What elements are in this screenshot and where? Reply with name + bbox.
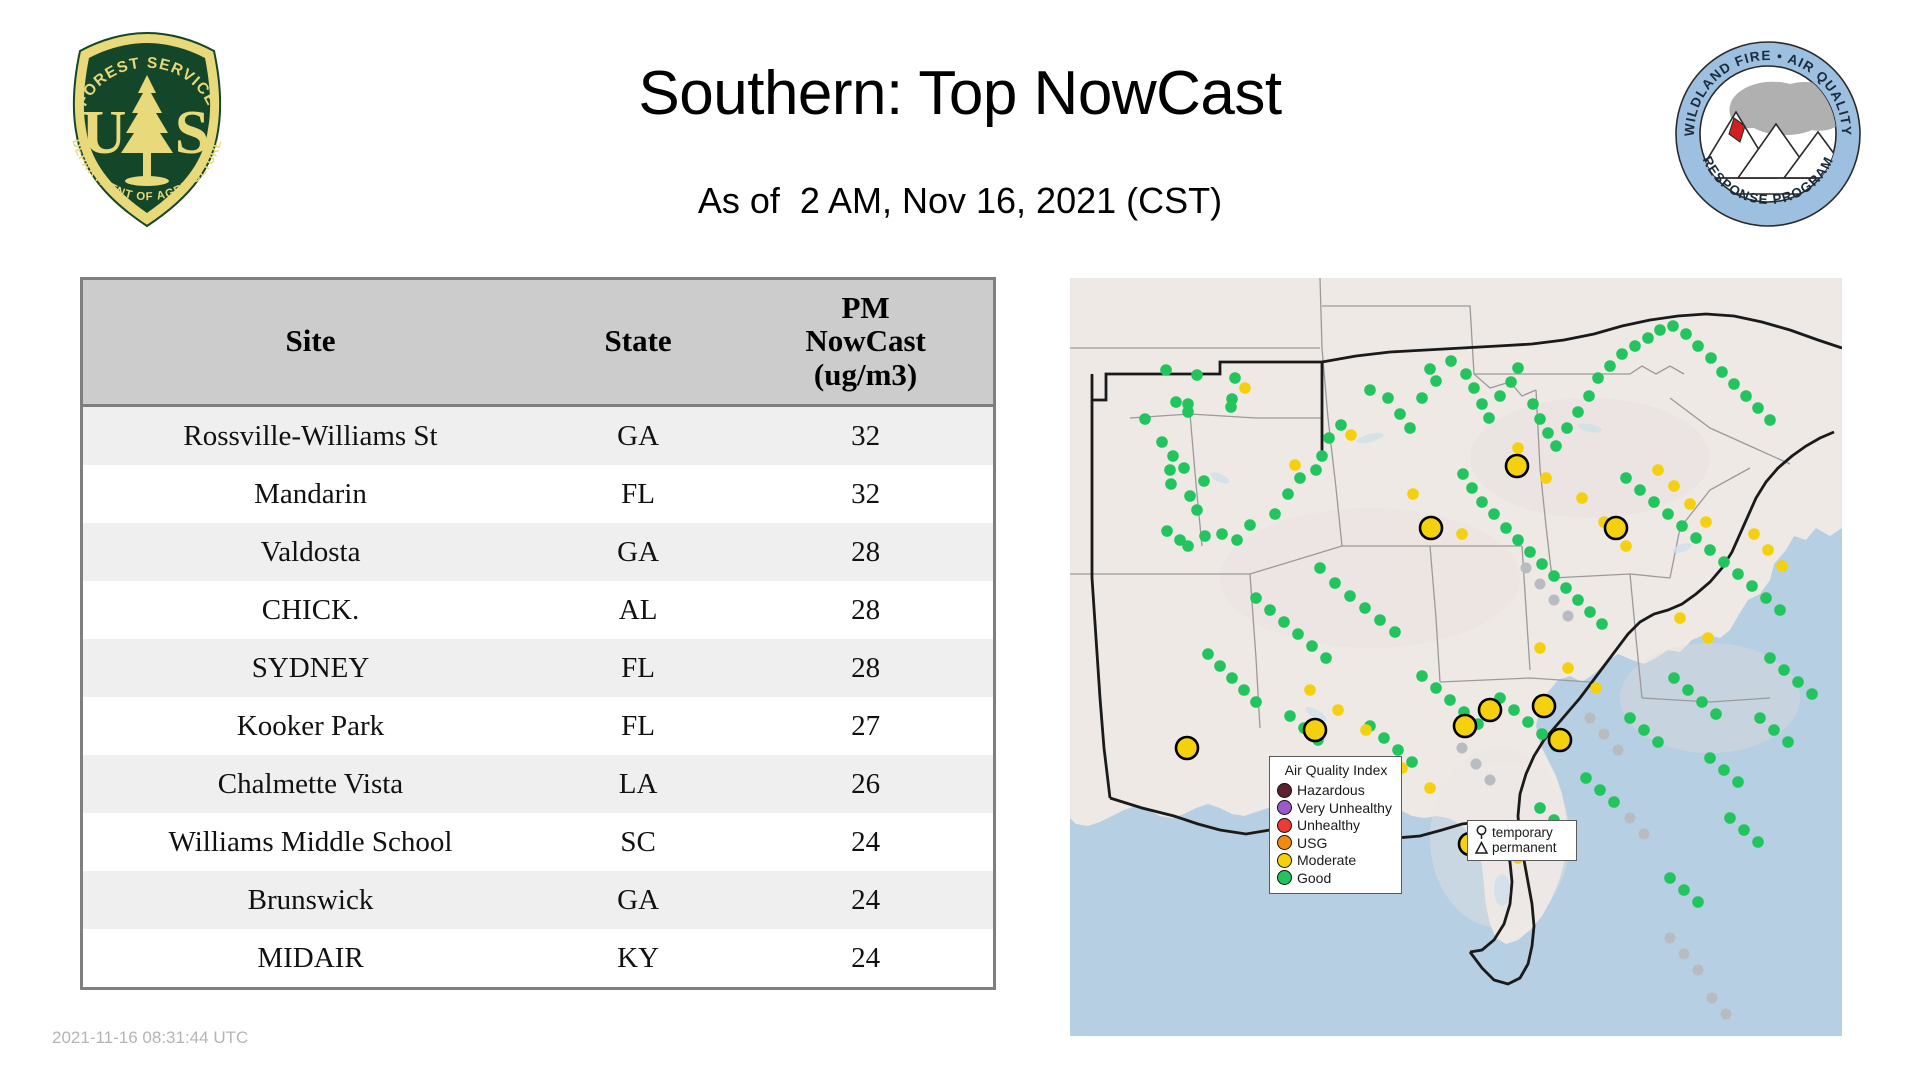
monitor-dot-good[interactable]	[1696, 696, 1708, 708]
column-header-pm-line2: NowCast	[742, 324, 989, 357]
cell-site: CHICK.	[83, 581, 538, 639]
monitor-dot-good[interactable]	[1740, 390, 1752, 402]
cell-state: FL	[538, 639, 738, 697]
table-row: Kooker ParkFL27	[83, 697, 993, 755]
monitor-dot-good[interactable]	[1704, 544, 1716, 556]
cell-state: GA	[538, 871, 738, 929]
monitor-dot-good[interactable]	[1782, 736, 1794, 748]
aqi-legend-label: Unhealthy	[1297, 818, 1360, 832]
monitor-dot-good[interactable]	[1264, 604, 1276, 616]
monitor-dot-top-site[interactable]	[1420, 517, 1442, 539]
monitor-dot-moderate[interactable]	[1590, 682, 1602, 694]
monitor-dot-moderate[interactable]	[1652, 464, 1664, 476]
monitor-dot-top-site[interactable]	[1176, 737, 1198, 759]
monitor-dot-good[interactable]	[1624, 712, 1636, 724]
monitor-dot-good[interactable]	[1394, 408, 1406, 420]
monitor-dot-moderate[interactable]	[1748, 528, 1760, 540]
monitor-dot-good[interactable]	[1652, 736, 1664, 748]
aqi-swatch-icon	[1277, 853, 1292, 868]
monitor-dot-good[interactable]	[1250, 592, 1262, 604]
monitor-dot-good[interactable]	[1522, 716, 1534, 728]
page-subtitle: As of 2 AM, Nov 16, 2021 (CST)	[0, 180, 1920, 222]
monitor-dot-good[interactable]	[1238, 684, 1250, 696]
map-canvas	[1070, 278, 1842, 1036]
monitor-dot-good[interactable]	[1282, 488, 1294, 500]
monitor-dot-offline[interactable]	[1665, 933, 1676, 944]
column-header-pm-nowcast: PM NowCast (ug/m3)	[738, 280, 993, 406]
monitor-dot-offline[interactable]	[1563, 611, 1574, 622]
table-row: MandarinFL32	[83, 465, 993, 523]
monitor-dot-good[interactable]	[1716, 366, 1728, 378]
aqi-legend: Air Quality Index HazardousVery Unhealth…	[1269, 756, 1402, 894]
monitor-dot-good[interactable]	[1310, 464, 1322, 476]
monitor-dot-good[interactable]	[1344, 590, 1356, 602]
table-header: Site State PM NowCast (ug/m3)	[83, 280, 993, 406]
monitor-dot-good[interactable]	[1550, 440, 1562, 452]
monitor-dot-good[interactable]	[1320, 652, 1332, 664]
footer-timestamp: 2021-11-16 08:31:44 UTC	[52, 1028, 248, 1048]
monitor-dot-top-site[interactable]	[1304, 719, 1326, 741]
table-body: Rossville-Williams StGA32MandarinFL32Val…	[83, 406, 993, 988]
cell-pm-nowcast: 24	[738, 871, 993, 929]
monitor-dot-top-site[interactable]	[1549, 729, 1571, 751]
monitor-dot-good[interactable]	[1182, 540, 1194, 552]
cell-state: FL	[538, 465, 738, 523]
monitor-dot-good[interactable]	[1198, 475, 1210, 487]
monitor-dot-offline[interactable]	[1679, 949, 1690, 960]
monitor-dot-offline[interactable]	[1613, 745, 1624, 756]
air-quality-map[interactable]: Air Quality Index HazardousVery Unhealth…	[1070, 278, 1842, 1036]
cell-site: MIDAIR	[83, 929, 538, 987]
monitor-dot-good[interactable]	[1760, 592, 1772, 604]
monitor-dot-good[interactable]	[1445, 355, 1457, 367]
cell-pm-nowcast: 28	[738, 581, 993, 639]
monitor-dot-offline[interactable]	[1585, 713, 1596, 724]
monitor-dot-good[interactable]	[1139, 413, 1151, 425]
monitor-dot-good[interactable]	[1806, 688, 1818, 700]
monitor-dot-good[interactable]	[1680, 328, 1692, 340]
monitor-dot-moderate[interactable]	[1345, 429, 1357, 441]
cell-pm-nowcast: 27	[738, 697, 993, 755]
monitor-dot-good[interactable]	[1768, 724, 1780, 736]
cell-site: Williams Middle School	[83, 813, 538, 871]
aqi-legend-item: Moderate	[1277, 851, 1395, 869]
monitor-dot-good[interactable]	[1202, 648, 1214, 660]
cell-state: GA	[538, 523, 738, 581]
monitor-dot-offline[interactable]	[1639, 829, 1650, 840]
monitor-dot-moderate[interactable]	[1540, 472, 1552, 484]
monitor-dot-good[interactable]	[1548, 570, 1560, 582]
monitor-dot-moderate[interactable]	[1424, 782, 1436, 794]
monitor-dot-moderate[interactable]	[1360, 724, 1372, 736]
monitor-dot-good[interactable]	[1724, 812, 1736, 824]
letter-u: U	[82, 99, 127, 167]
monitor-dot-offline[interactable]	[1721, 1009, 1732, 1020]
monitor-dot-good[interactable]	[1692, 896, 1704, 908]
monitor-dot-moderate[interactable]	[1674, 612, 1686, 624]
monitor-dot-good[interactable]	[1323, 432, 1335, 444]
aqi-swatch-icon	[1277, 835, 1292, 850]
monitor-dot-good[interactable]	[1316, 450, 1328, 462]
cell-site: Rossville-Williams St	[83, 406, 538, 466]
monitor-dot-good[interactable]	[1616, 348, 1628, 360]
monitor-dot-good[interactable]	[1664, 872, 1676, 884]
monitor-dot-good[interactable]	[1512, 362, 1524, 374]
monitor-dot-good[interactable]	[1560, 582, 1572, 594]
monitor-dot-good[interactable]	[1476, 398, 1488, 410]
monitor-dot-good[interactable]	[1752, 402, 1764, 414]
monitor-dot-moderate[interactable]	[1776, 560, 1788, 572]
aqi-legend-label: Very Unhealthy	[1297, 801, 1392, 815]
monitor-dot-good[interactable]	[1250, 696, 1262, 708]
monitor-dot-good[interactable]	[1596, 618, 1608, 630]
monitor-dot-good[interactable]	[1494, 390, 1506, 402]
monitor-dot-good[interactable]	[1225, 401, 1237, 413]
monitor-dot-good[interactable]	[1378, 732, 1390, 744]
monitor-dot-good[interactable]	[1662, 508, 1674, 520]
monitor-dot-good[interactable]	[1364, 384, 1376, 396]
table-row: Williams Middle SchoolSC24	[83, 813, 993, 871]
monitor-dot-good[interactable]	[1705, 352, 1717, 364]
monitor-dot-good[interactable]	[1604, 360, 1616, 372]
monitor-dot-good[interactable]	[1165, 478, 1177, 490]
cell-state: GA	[538, 406, 738, 466]
monitor-dot-good[interactable]	[1508, 704, 1520, 716]
table-row: MIDAIRKY24	[83, 929, 993, 987]
monitor-dot-good[interactable]	[1184, 490, 1196, 502]
monitor-dot-good[interactable]	[1500, 522, 1512, 534]
cell-pm-nowcast: 32	[738, 465, 993, 523]
monitor-dot-good[interactable]	[1536, 728, 1548, 740]
monitor-dot-good[interactable]	[1536, 558, 1548, 570]
cell-state: SC	[538, 813, 738, 871]
monitor-dot-moderate[interactable]	[1620, 540, 1632, 552]
monitor-dot-offline[interactable]	[1457, 743, 1468, 754]
monitor-dot-moderate[interactable]	[1700, 516, 1712, 528]
monitor-dot-good[interactable]	[1191, 369, 1203, 381]
table-row: Rossville-Williams StGA32	[83, 406, 993, 466]
monitor-dot-good[interactable]	[1294, 472, 1306, 484]
cell-state: AL	[538, 581, 738, 639]
monitor-dot-good[interactable]	[1392, 744, 1404, 756]
monitor-dot-good[interactable]	[1583, 390, 1595, 402]
monitor-dot-good[interactable]	[1167, 450, 1179, 462]
site-type-legend: temporary permanent	[1467, 820, 1577, 861]
cell-pm-nowcast: 28	[738, 639, 993, 697]
monitor-dot-good[interactable]	[1314, 562, 1326, 574]
cell-site: Kooker Park	[83, 697, 538, 755]
triangle-icon	[1474, 840, 1489, 855]
monitor-dot-moderate[interactable]	[1668, 480, 1680, 492]
monitor-dot-good[interactable]	[1668, 672, 1680, 684]
monitor-dot-good[interactable]	[1594, 784, 1606, 796]
cell-site: Valdosta	[83, 523, 538, 581]
monitor-dot-good[interactable]	[1774, 604, 1786, 616]
monitor-dot-good[interactable]	[1561, 422, 1573, 434]
monitor-dot-good[interactable]	[1620, 472, 1632, 484]
monitor-dot-good[interactable]	[1444, 694, 1456, 706]
monitor-dot-offline[interactable]	[1707, 993, 1718, 1004]
letter-s: S	[175, 99, 209, 167]
aqi-legend-label: Hazardous	[1297, 783, 1365, 797]
monitor-dot-good[interactable]	[1161, 525, 1173, 537]
monitor-dot-moderate[interactable]	[1534, 642, 1546, 654]
monitor-dot-good[interactable]	[1460, 368, 1472, 380]
monitor-dot-offline[interactable]	[1549, 595, 1560, 606]
cell-state: FL	[538, 697, 738, 755]
monitor-dot-good[interactable]	[1667, 320, 1679, 332]
monitor-dot-good[interactable]	[1404, 422, 1416, 434]
monitor-dot-good[interactable]	[1214, 660, 1226, 672]
site-type-permanent-row: permanent	[1474, 840, 1571, 855]
site-type-temporary-label: temporary	[1492, 825, 1553, 840]
table-row: SYDNEYFL28	[83, 639, 993, 697]
aqi-legend-title: Air Quality Index	[1277, 763, 1395, 778]
monitor-dot-offline[interactable]	[1471, 759, 1482, 770]
cell-pm-nowcast: 28	[738, 523, 993, 581]
monitor-dot-good[interactable]	[1629, 340, 1641, 352]
aqi-legend-item: Unhealthy	[1277, 816, 1395, 834]
monitor-dot-good[interactable]	[1654, 324, 1666, 336]
monitor-dot-offline[interactable]	[1521, 563, 1532, 574]
cell-site: SYDNEY	[83, 639, 538, 697]
column-header-state: State	[538, 280, 738, 406]
monitor-dot-moderate[interactable]	[1304, 684, 1316, 696]
monitor-dot-moderate[interactable]	[1762, 544, 1774, 556]
site-type-permanent-label: permanent	[1492, 840, 1557, 855]
table-header-row: Site State PM NowCast (ug/m3)	[83, 280, 993, 406]
table-row: CHICK.AL28	[83, 581, 993, 639]
monitor-dot-good[interactable]	[1692, 340, 1704, 352]
monitor-dot-good[interactable]	[1592, 372, 1604, 384]
monitor-dot-good[interactable]	[1634, 484, 1646, 496]
monitor-dot-good[interactable]	[1178, 462, 1190, 474]
monitor-dot-good[interactable]	[1732, 568, 1744, 580]
monitor-dot-good[interactable]	[1483, 412, 1495, 424]
cell-state: KY	[538, 929, 738, 987]
monitor-dot-good[interactable]	[1728, 378, 1740, 390]
column-header-pm-line3: (ug/m3)	[742, 358, 989, 391]
monitor-dot-good[interactable]	[1278, 616, 1290, 628]
cell-site: Chalmette Vista	[83, 755, 538, 813]
monitor-dot-good[interactable]	[1430, 375, 1442, 387]
monitor-dot-good[interactable]	[1534, 413, 1546, 425]
monitor-dot-good[interactable]	[1231, 534, 1243, 546]
table-row: ValdostaGA28	[83, 523, 993, 581]
monitor-dot-moderate[interactable]	[1239, 382, 1251, 394]
cell-pm-nowcast: 32	[738, 406, 993, 466]
monitor-dot-good[interactable]	[1638, 724, 1650, 736]
monitor-dot-top-site[interactable]	[1533, 695, 1555, 717]
monitor-dot-offline[interactable]	[1625, 813, 1636, 824]
monitor-dot-good[interactable]	[1229, 372, 1241, 384]
monitor-dot-good[interactable]	[1244, 519, 1256, 531]
monitor-dot-good[interactable]	[1676, 520, 1688, 532]
monitor-dot-good[interactable]	[1389, 626, 1401, 638]
monitor-dot-good[interactable]	[1584, 606, 1596, 618]
monitor-dot-good[interactable]	[1306, 640, 1318, 652]
aqi-legend-item: Very Unhealthy	[1277, 799, 1395, 817]
monitor-dot-good[interactable]	[1468, 382, 1480, 394]
monitor-dot-good[interactable]	[1792, 676, 1804, 688]
monitor-dot-good[interactable]	[1359, 602, 1371, 614]
cell-state: LA	[538, 755, 738, 813]
monitor-dot-good[interactable]	[1572, 594, 1584, 606]
aqi-swatch-icon	[1277, 818, 1292, 833]
site-type-temporary-row: temporary	[1474, 825, 1571, 840]
monitor-dot-good[interactable]	[1191, 504, 1203, 516]
monitor-dot-moderate[interactable]	[1407, 488, 1419, 500]
monitor-dot-moderate[interactable]	[1576, 492, 1588, 504]
monitor-dot-good[interactable]	[1746, 580, 1758, 592]
aqi-swatch-icon	[1277, 870, 1292, 885]
monitor-dot-good[interactable]	[1682, 684, 1694, 696]
monitor-dot-good[interactable]	[1160, 364, 1172, 376]
monitor-dot-offline[interactable]	[1535, 579, 1546, 590]
monitor-dot-good[interactable]	[1476, 496, 1488, 508]
monitor-dot-good[interactable]	[1710, 708, 1722, 720]
monitor-dot-top-site[interactable]	[1454, 715, 1476, 737]
aqi-legend-label: Good	[1297, 871, 1331, 885]
monitor-dot-good[interactable]	[1542, 427, 1554, 439]
monitor-dot-top-site[interactable]	[1605, 517, 1627, 539]
monitor-dot-good[interactable]	[1226, 672, 1238, 684]
aqi-legend-rows: HazardousVery UnhealthyUnhealthyUSGModer…	[1277, 781, 1395, 886]
monitor-dot-good[interactable]	[1382, 392, 1394, 404]
monitor-dot-good[interactable]	[1335, 419, 1347, 431]
aqi-legend-item: Good	[1277, 869, 1395, 887]
monitor-dot-good[interactable]	[1764, 652, 1776, 664]
monitor-dot-good[interactable]	[1488, 508, 1500, 520]
monitor-dot-good[interactable]	[1430, 682, 1442, 694]
monitor-dot-good[interactable]	[1284, 710, 1296, 722]
page-title: Southern: Top NowCast	[0, 58, 1920, 129]
column-header-pm-line1: PM	[742, 291, 989, 324]
monitor-dot-good[interactable]	[1524, 546, 1536, 558]
monitor-dot-good[interactable]	[1678, 884, 1690, 896]
monitor-dot-good[interactable]	[1527, 398, 1539, 410]
aqi-legend-label: USG	[1297, 836, 1327, 850]
monitor-dot-good[interactable]	[1292, 628, 1304, 640]
monitor-dot-good[interactable]	[1738, 824, 1750, 836]
cell-site: Mandarin	[83, 465, 538, 523]
monitor-dot-good[interactable]	[1572, 406, 1584, 418]
cell-site: Brunswick	[83, 871, 538, 929]
monitor-dot-top-site[interactable]	[1479, 699, 1501, 721]
wildland-fire-air-quality-logo: WILDLAND FIRE • AIR QUALITY RESPONSE PRO…	[1672, 38, 1864, 230]
table-row: Chalmette VistaLA26	[83, 755, 993, 813]
monitor-dot-good[interactable]	[1534, 802, 1546, 814]
monitor-dot-good[interactable]	[1199, 530, 1211, 542]
monitor-dot-good[interactable]	[1704, 752, 1716, 764]
circle-icon	[1474, 825, 1489, 840]
aqi-swatch-icon	[1277, 800, 1292, 815]
monitor-dot-good[interactable]	[1457, 468, 1469, 480]
monitor-dot-good[interactable]	[1416, 392, 1428, 404]
monitor-dot-moderate[interactable]	[1684, 498, 1696, 510]
aqi-swatch-icon	[1277, 783, 1292, 798]
monitor-dot-good[interactable]	[1374, 614, 1386, 626]
monitor-dot-good[interactable]	[1608, 796, 1620, 808]
monitor-dot-good[interactable]	[1580, 772, 1592, 784]
column-header-site: Site	[83, 280, 538, 406]
monitor-dot-moderate[interactable]	[1512, 442, 1524, 454]
forest-service-logo: U S FOREST SERVICE DEPARTMENT OF AGRICUL…	[52, 27, 242, 233]
monitor-dot-offline[interactable]	[1485, 775, 1496, 786]
monitor-dot-good[interactable]	[1718, 764, 1730, 776]
monitor-dot-good[interactable]	[1690, 532, 1702, 544]
monitor-dot-good[interactable]	[1648, 496, 1660, 508]
table-row: BrunswickGA24	[83, 871, 993, 929]
monitor-dot-good[interactable]	[1424, 363, 1436, 375]
nowcast-table: Site State PM NowCast (ug/m3) Rossville-…	[83, 280, 993, 987]
monitor-dot-top-site[interactable]	[1506, 455, 1528, 477]
monitor-dot-good[interactable]	[1164, 464, 1176, 476]
monitor-dot-moderate[interactable]	[1289, 459, 1301, 471]
cell-pm-nowcast: 24	[738, 813, 993, 871]
cell-pm-nowcast: 24	[738, 929, 993, 987]
monitor-dot-good[interactable]	[1269, 508, 1281, 520]
monitor-dot-good[interactable]	[1512, 534, 1524, 546]
monitor-dot-good[interactable]	[1732, 776, 1744, 788]
aqi-legend-label: Moderate	[1297, 853, 1356, 867]
cell-pm-nowcast: 26	[738, 755, 993, 813]
aqi-legend-item: Hazardous	[1277, 781, 1395, 799]
monitor-dot-moderate[interactable]	[1562, 662, 1574, 674]
aqi-legend-item: USG	[1277, 834, 1395, 852]
monitor-dot-good[interactable]	[1642, 332, 1654, 344]
nowcast-table-container: Site State PM NowCast (ug/m3) Rossville-…	[80, 277, 996, 990]
monitor-dot-good[interactable]	[1406, 756, 1418, 768]
monitor-dot-moderate[interactable]	[1456, 528, 1468, 540]
monitor-dot-good[interactable]	[1329, 577, 1341, 589]
monitor-dot-good[interactable]	[1156, 436, 1168, 448]
monitor-dot-moderate[interactable]	[1702, 632, 1714, 644]
monitor-dot-good[interactable]	[1182, 406, 1194, 418]
monitor-dot-good[interactable]	[1754, 712, 1766, 724]
monitor-dot-good[interactable]	[1416, 670, 1428, 682]
monitor-dot-good[interactable]	[1466, 482, 1478, 494]
monitor-dot-good[interactable]	[1764, 414, 1776, 426]
monitor-dot-offline[interactable]	[1693, 965, 1704, 976]
monitor-dot-good[interactable]	[1216, 528, 1228, 540]
monitor-dot-offline[interactable]	[1599, 729, 1610, 740]
monitor-dot-good[interactable]	[1752, 836, 1764, 848]
monitor-dot-moderate[interactable]	[1332, 704, 1344, 716]
monitor-dot-good[interactable]	[1505, 376, 1517, 388]
monitor-dot-good[interactable]	[1778, 664, 1790, 676]
monitor-dot-good[interactable]	[1170, 396, 1182, 408]
monitor-dot-good[interactable]	[1718, 556, 1730, 568]
